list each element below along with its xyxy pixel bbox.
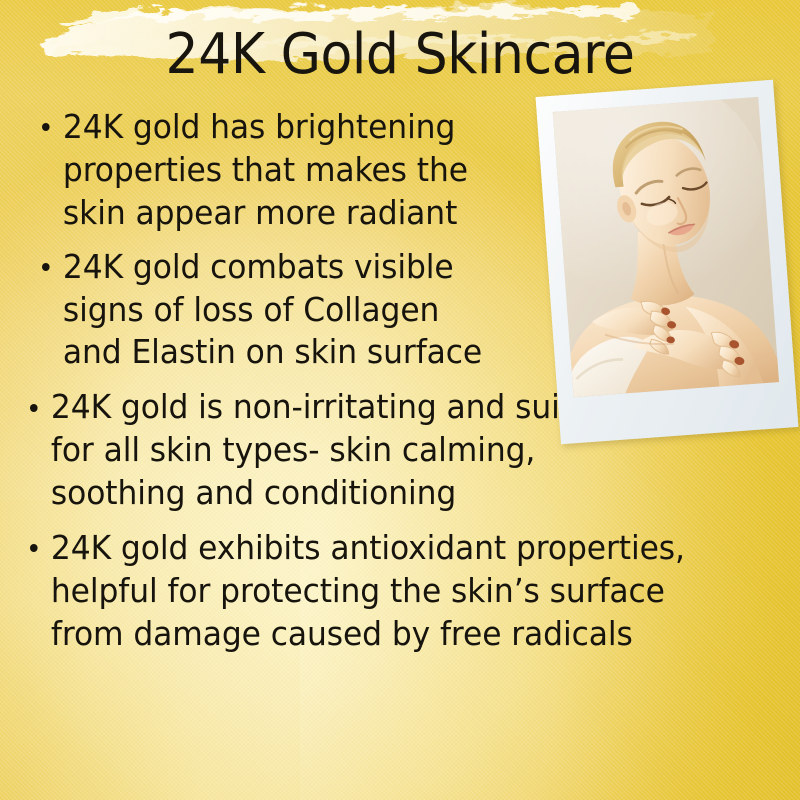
list-item: 24K gold combats visible signs of loss o… xyxy=(42,246,489,375)
list-item-text: 24K gold combats visible signs of loss o… xyxy=(42,246,489,375)
list-item-text: 24K gold exhibits antioxidant properties… xyxy=(30,527,695,656)
list-item-text: 24K gold has brightening properties that… xyxy=(42,106,489,235)
photo-image xyxy=(553,97,779,397)
list-item-text: 24K gold is non-irritating and suitable … xyxy=(30,386,648,515)
polaroid-photo-frame xyxy=(536,80,799,444)
list-item: 24K gold exhibits antioxidant properties… xyxy=(30,527,695,656)
page-title: 24K Gold Skincare xyxy=(28,26,772,85)
list-item: 24K gold is non-irritating and suitable … xyxy=(30,386,648,515)
slide-canvas: 24K Gold Skincare 24K gold has brighteni… xyxy=(0,0,800,800)
list-item: 24K gold has brightening properties that… xyxy=(42,106,489,235)
